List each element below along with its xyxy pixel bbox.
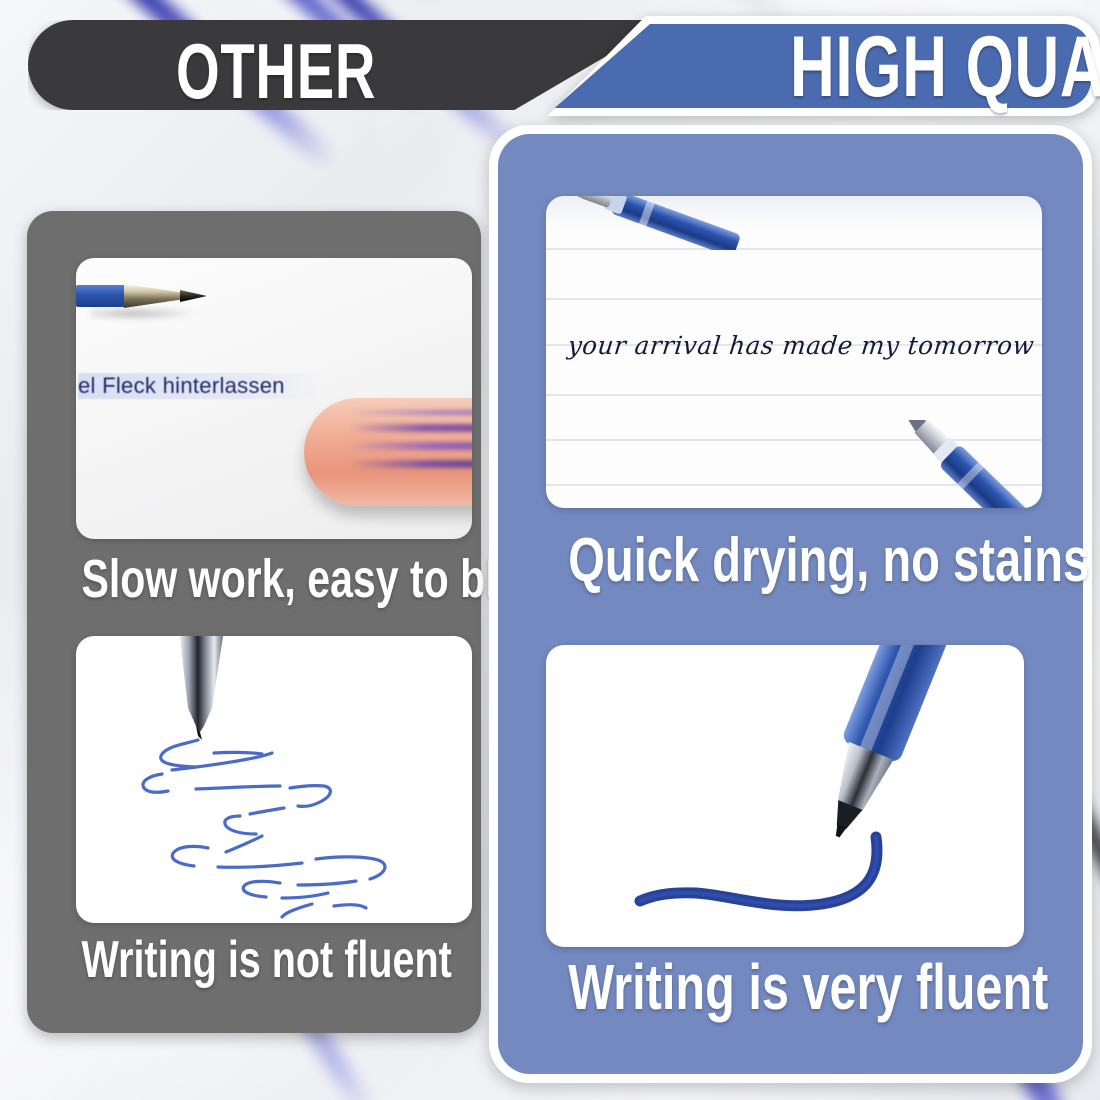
smudged-ink-text: el Fleck hinterlassen	[78, 373, 323, 399]
image-card-smooth-stroke	[546, 645, 1024, 947]
handwriting-text: your arrival has made my tomorrow even b…	[566, 331, 1010, 360]
fingertip-with-ink	[304, 398, 472, 506]
paper-rule-2	[546, 298, 1042, 300]
smooth-stroke-svg	[546, 645, 1024, 947]
gel-pen-top-left-icon	[546, 196, 742, 250]
caption-very-fluent: Writing is very fluent	[568, 950, 1013, 1024]
caption-not-fluent: Writing is not fluent	[81, 930, 426, 990]
paper-rule-4	[546, 394, 1042, 396]
infographic-canvas: OTHER HIGH QUALITY el Fleck hinterlassen…	[0, 0, 1100, 1100]
caption-quick-drying: Quick drying, no stains	[568, 525, 1013, 596]
image-card-smudge: el Fleck hinterlassen	[76, 258, 472, 539]
banner-other-label: OTHER	[176, 26, 376, 117]
broken-scribble-svg	[76, 636, 472, 923]
image-card-broken-scribble	[76, 636, 472, 923]
banner-high-quality-label: HIGH QUALITY	[790, 18, 1100, 117]
ballpoint-pen-tip-icon	[76, 283, 211, 309]
caption-slow-work: Slow work, easy to blur	[81, 548, 426, 610]
gel-pen-bottom-right-icon	[882, 420, 1042, 508]
image-card-notepad: your arrival has made my tomorrow even b…	[546, 196, 1042, 508]
